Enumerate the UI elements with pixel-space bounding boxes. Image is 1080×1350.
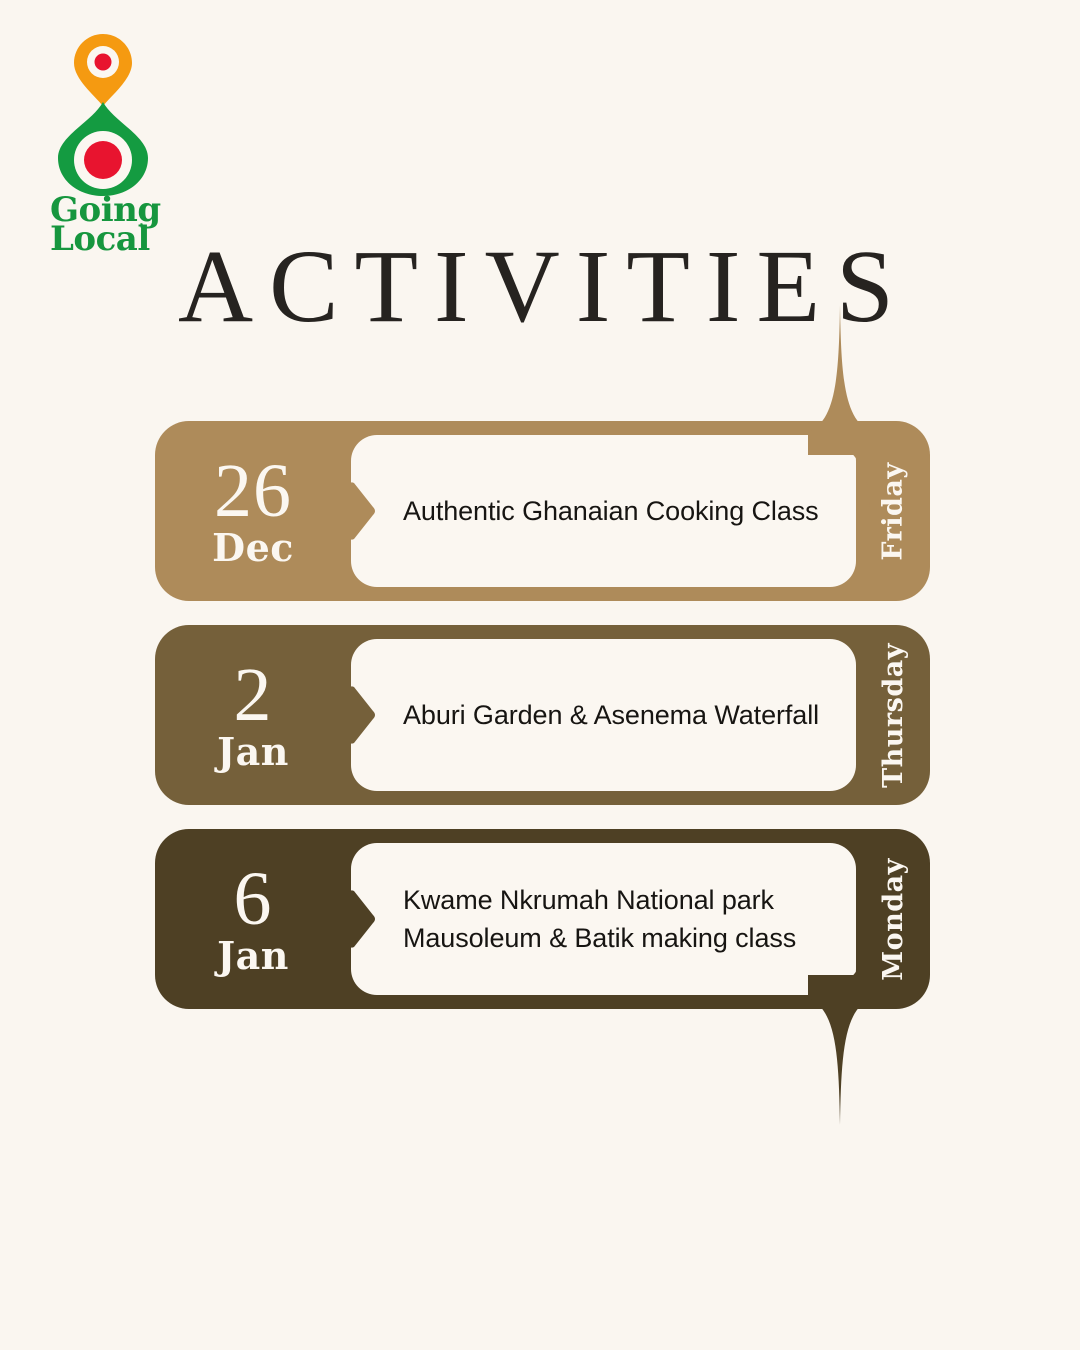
card-date-block: 26 Dec — [155, 421, 351, 601]
pointer-notch-icon — [350, 889, 376, 949]
pointer-notch-icon — [350, 481, 376, 541]
card-content-panel[interactable]: Authentic Ghanaian Cooking Class — [351, 435, 856, 587]
activity-card[interactable]: 6 Jan Kwame Nkrumah National park Mausol… — [155, 829, 930, 1009]
card-date-block: 2 Jan — [155, 625, 351, 805]
card-weekday-label: Thursday — [878, 643, 909, 788]
card-date-block: 6 Jan — [155, 829, 351, 1009]
card-content-panel[interactable]: Kwame Nkrumah National park Mausoleum & … — [351, 843, 856, 995]
activity-schedule-list: 26 Dec Authentic Ghanaian Cooking Class … — [155, 421, 930, 1009]
card-weekday-strip: Friday — [856, 421, 930, 601]
activity-title: Kwame Nkrumah National park Mausoleum & … — [403, 881, 822, 958]
card-weekday-label: Friday — [878, 462, 909, 560]
card-content-panel[interactable]: Aburi Garden & Asenema Waterfall — [351, 639, 856, 791]
pointer-notch-icon — [350, 685, 376, 745]
activity-title: Aburi Garden & Asenema Waterfall — [403, 696, 819, 734]
card-day-number: 6 — [234, 865, 273, 933]
activity-title: Authentic Ghanaian Cooking Class — [403, 492, 819, 530]
card-weekday-label: Monday — [878, 858, 909, 981]
activity-card[interactable]: 26 Dec Authentic Ghanaian Cooking Class … — [155, 421, 930, 601]
location-pin-droplet-icon — [48, 28, 158, 198]
card-weekday-strip: Thursday — [856, 625, 930, 805]
card-day-number: 2 — [234, 661, 273, 729]
card-month: Jan — [217, 731, 289, 773]
card-weekday-strip: Monday — [856, 829, 930, 1009]
page-title: ACTIVITIES — [0, 232, 1080, 341]
card-day-number: 26 — [214, 457, 292, 525]
card-month: Dec — [212, 527, 294, 569]
activity-card[interactable]: 2 Jan Aburi Garden & Asenema Waterfall T… — [155, 625, 930, 805]
card-month: Jan — [217, 935, 289, 977]
